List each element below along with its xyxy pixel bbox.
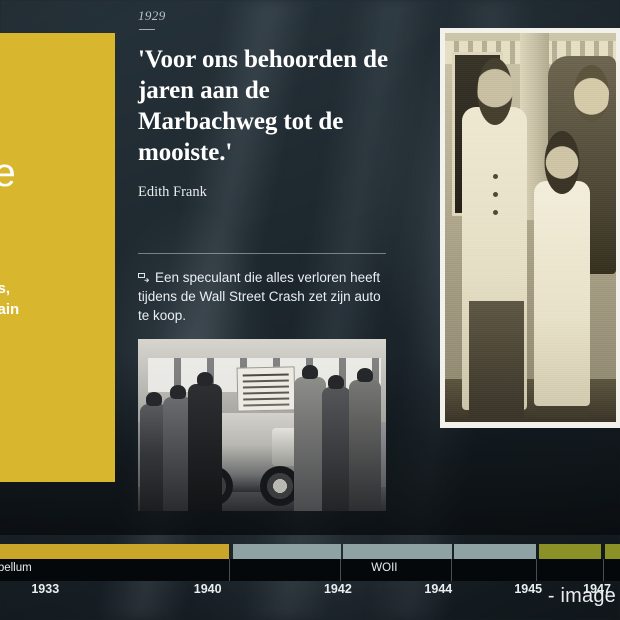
intro-card-subtitle: le crisis, t am Main [0, 278, 115, 320]
timeline-segment[interactable] [343, 544, 452, 559]
year-label: 1929 [138, 8, 390, 24]
timeline-era-label: WOII [233, 562, 537, 574]
intro-card-subtitle-line1: le crisis, [0, 280, 10, 297]
ws-crowd [138, 339, 386, 511]
timeline-year-label[interactable]: 1944 [424, 582, 452, 596]
wall-street-crash-photo[interactable] [138, 339, 386, 511]
family-photo[interactable] [440, 28, 620, 428]
timeline-tick [603, 559, 604, 581]
expand-icon[interactable] [138, 272, 149, 283]
timeline-segment[interactable] [233, 544, 342, 559]
ws-person [322, 387, 352, 511]
timeline-story-viewer: nne le crisis, t am Main 1929 'Voor ons … [0, 0, 620, 620]
timeline-year-label[interactable]: 1942 [324, 582, 352, 596]
timeline-segment[interactable] [0, 544, 229, 559]
timeline-year-label[interactable]: 1940 [194, 582, 222, 596]
timeline-bars[interactable] [0, 544, 620, 559]
story-column: 1929 'Voor ons behoorden de jaren aan de… [138, 8, 390, 511]
timeline-segment[interactable] [539, 544, 601, 559]
intro-card[interactable]: nne le crisis, t am Main [0, 33, 115, 482]
ws-person [188, 384, 223, 511]
timeline-tick [229, 559, 230, 581]
photo-caption: Een speculant die alles verloren heeft t… [138, 268, 390, 325]
timeline-year-strip: 193319401942194419451947 [0, 582, 620, 602]
caption-divider [138, 253, 386, 254]
quote-attribution: Edith Frank [138, 184, 390, 201]
watermark: - image [548, 585, 616, 608]
quote-text: 'Voor ons behoorden de jaren aan de Marb… [138, 44, 390, 168]
timeline-era-label: erbellum [0, 562, 112, 574]
photo-caption-text: Een speculant die alles verloren heeft t… [138, 270, 381, 323]
timeline-era-strip: erbellumWOII [0, 559, 620, 581]
photo-grain-overlay [445, 33, 616, 422]
timeline[interactable]: erbellumWOII 193319401942194419451947 [0, 535, 620, 620]
timeline-year-label[interactable]: 1933 [31, 582, 59, 596]
ws-person [349, 380, 381, 511]
timeline-year-label[interactable]: 1945 [514, 582, 542, 596]
timeline-segment[interactable] [605, 544, 620, 559]
intro-card-subtitle-line2: t am Main [0, 299, 115, 320]
timeline-tick [451, 559, 452, 581]
intro-card-title: nne [0, 151, 15, 196]
year-divider [139, 29, 155, 30]
timeline-tick [340, 559, 341, 581]
timeline-segment[interactable] [454, 544, 536, 559]
family-photo-image [445, 33, 616, 422]
timeline-tick [536, 559, 537, 581]
